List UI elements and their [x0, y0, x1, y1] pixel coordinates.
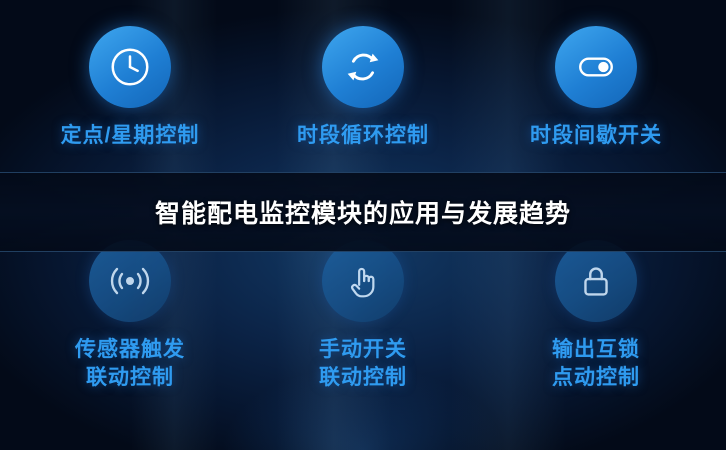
clock-icon — [89, 26, 171, 108]
feature-label-line: 手动开关 — [263, 336, 463, 364]
poster-image: 定点/星期控制 时段循环控制 — [0, 0, 726, 450]
feature-label-line: 传感器触发 — [30, 336, 230, 364]
feature-label-line: 联动控制 — [30, 364, 230, 392]
title-banner: 智能配电监控模块的应用与发展趋势 — [0, 172, 726, 252]
feature-item-sensor-trigger[interactable]: 传感器触发 联动控制 — [30, 240, 230, 393]
toggle-switch-icon — [555, 26, 637, 108]
feature-label: 定点/星期控制 — [30, 122, 230, 150]
feature-label: 传感器触发 联动控制 — [30, 336, 230, 393]
feature-label-line: 定点/星期控制 — [30, 122, 230, 150]
feature-item-period-cycle[interactable]: 时段循环控制 — [263, 26, 463, 150]
hand-tap-icon — [322, 240, 404, 322]
feature-label: 输出互锁 点动控制 — [496, 336, 696, 393]
feature-item-output-interlock[interactable]: 输出互锁 点动控制 — [496, 240, 696, 393]
feature-label: 手动开关 联动控制 — [263, 336, 463, 393]
feature-item-timed-weekday[interactable]: 定点/星期控制 — [30, 26, 230, 150]
lock-icon — [555, 240, 637, 322]
feature-label: 时段间歇开关 — [496, 122, 696, 150]
cycle-refresh-icon — [322, 26, 404, 108]
feature-label-line: 联动控制 — [263, 364, 463, 392]
feature-item-interval-switch[interactable]: 时段间歇开关 — [496, 26, 696, 150]
page-title: 智能配电监控模块的应用与发展趋势 — [155, 194, 571, 230]
feature-label: 时段循环控制 — [263, 122, 463, 150]
feature-label-line: 输出互锁 — [496, 336, 696, 364]
feature-label-line: 点动控制 — [496, 364, 696, 392]
feature-label-line: 时段间歇开关 — [496, 122, 696, 150]
feature-label-line: 时段循环控制 — [263, 122, 463, 150]
feature-item-manual-switch[interactable]: 手动开关 联动控制 — [263, 240, 463, 393]
wireless-sensor-icon — [89, 240, 171, 322]
